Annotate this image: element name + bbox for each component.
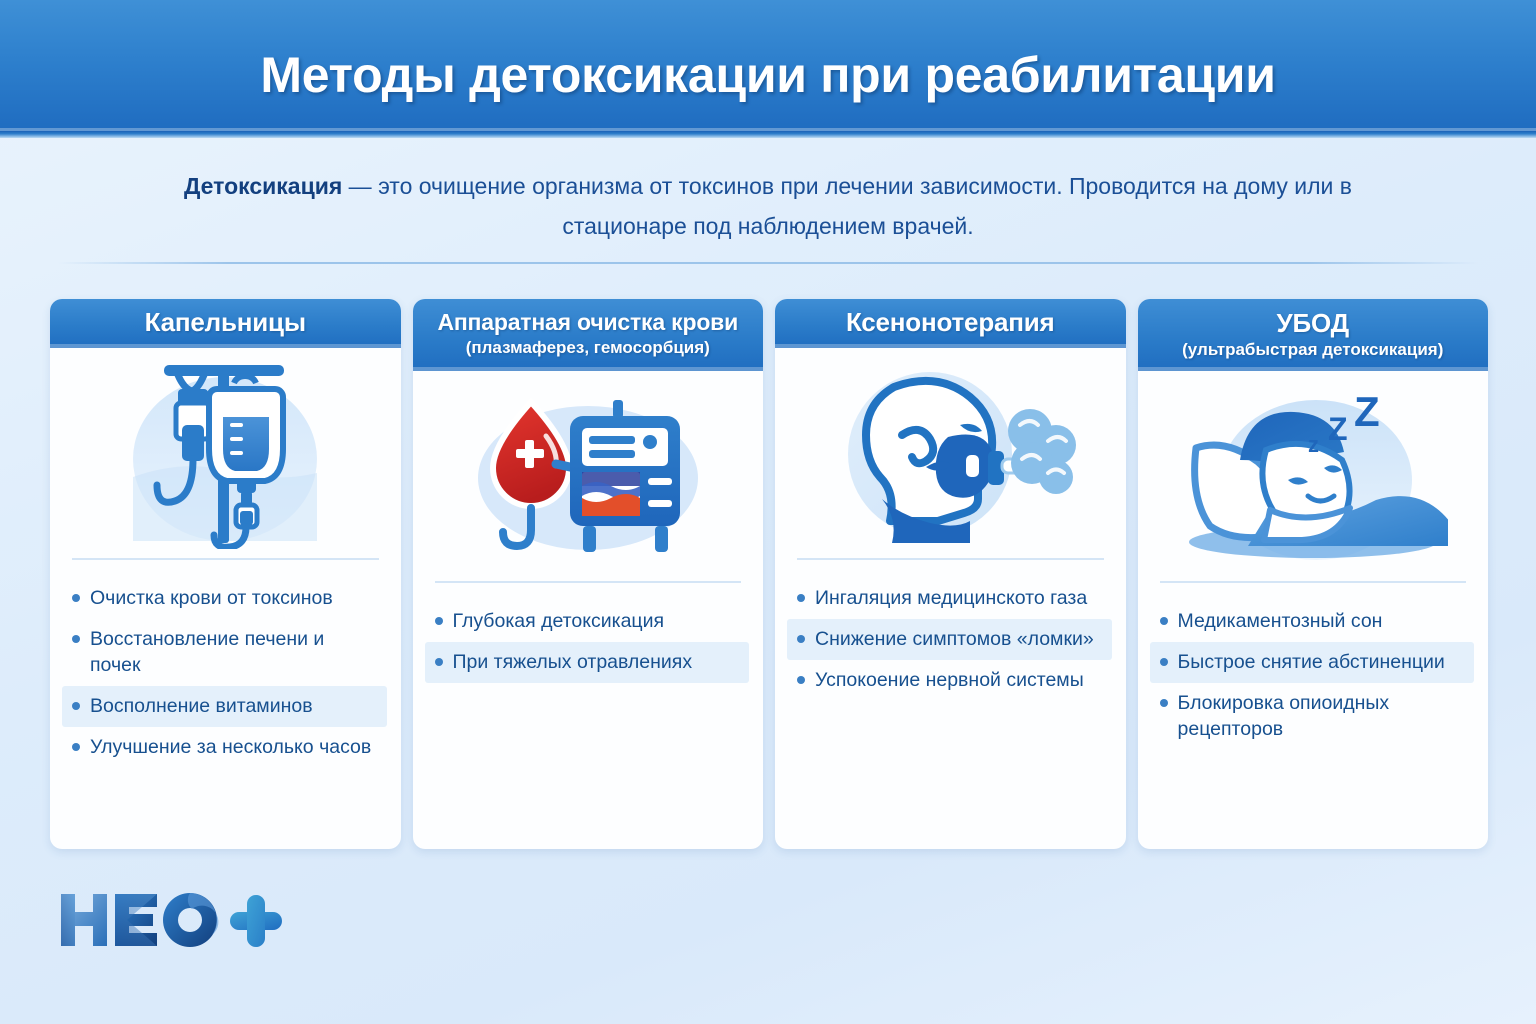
list-item: Блокировка опиоидных рецепторов — [1150, 683, 1475, 750]
method-card-blood-purification[interactable]: Аппаратная очистка крови (плазмаферез, г… — [413, 299, 764, 849]
card-subtitle: (плазмаферез, гемосорбция) — [423, 338, 754, 358]
method-card-xenon[interactable]: Ксенонотерапия — [775, 299, 1126, 849]
bullet-icon — [72, 702, 80, 710]
svg-text:Z: Z — [1354, 388, 1380, 435]
list-item-label: Глубокая детоксикация — [453, 608, 742, 634]
list-item: Быстрое снятие абстиненции — [1150, 642, 1475, 683]
intro-lead-word: Детоксикация — [184, 173, 342, 199]
bullet-icon — [1160, 617, 1168, 625]
intro-paragraph: Детоксикация — это очищение организма от… — [168, 166, 1368, 246]
iv-drip-icon — [50, 348, 401, 554]
infographic-poster: Методы детоксикации при реабилитации Дет… — [0, 0, 1536, 1024]
list-item: Медикаментозный сон — [1150, 601, 1475, 642]
benefit-list-blood-purification: Глубокая детоксикация При тяжелых отравл… — [413, 583, 764, 849]
list-item: Восполнение витаминов — [62, 686, 387, 727]
bullet-icon — [72, 743, 80, 751]
method-cards-row: Капельницы — [50, 299, 1488, 849]
card-header-xenon: Ксенонотерапия — [775, 299, 1126, 348]
list-item: Очистка крови от токсинов — [62, 578, 387, 619]
list-item-label: Восполнение витаминов — [90, 693, 379, 719]
method-card-drip[interactable]: Капельницы — [50, 299, 401, 849]
card-title: Аппаратная очистка крови — [423, 310, 754, 336]
list-item: Глубокая детоксикация — [425, 601, 750, 642]
sleeping-patient-icon: z Z Z — [1138, 371, 1489, 577]
method-card-ubod[interactable]: УБОД (ультрабыстрая детоксикация) — [1138, 299, 1489, 849]
bullet-icon — [797, 635, 805, 643]
list-item: При тяжелых отравлениях — [425, 642, 750, 683]
list-item: Успокоение нервной системы — [787, 660, 1112, 701]
list-item-label: Быстрое снятие абстиненции — [1178, 649, 1467, 675]
list-item-label: Улучшение за несколько часов — [90, 734, 379, 760]
bullet-icon — [1160, 699, 1168, 707]
svg-text:Z: Z — [1328, 411, 1348, 447]
card-header-ubod: УБОД (ультрабыстрая детоксикация) — [1138, 299, 1489, 371]
xenon-inhalation-icon — [775, 348, 1126, 554]
card-header-blood-purification: Аппаратная очистка крови (плазмаферез, г… — [413, 299, 764, 371]
list-item-label: Ингаляция медицинското газа — [815, 585, 1104, 611]
card-title: Ксенонотерапия — [785, 308, 1116, 337]
benefit-list-ubod: Медикаментозный сон Быстрое снятие абсти… — [1138, 583, 1489, 849]
blood-purification-icon — [413, 371, 764, 577]
bullet-icon — [797, 676, 805, 684]
bullet-icon — [435, 617, 443, 625]
list-item: Восстановление печени и почек — [62, 619, 387, 686]
page-title: Методы детоксикации при реабилитации — [0, 46, 1536, 104]
bullet-icon — [72, 594, 80, 602]
card-header-drip: Капельницы — [50, 299, 401, 348]
card-subtitle: (ультрабыстрая детоксикация) — [1148, 340, 1479, 360]
list-item: Улучшение за несколько часов — [62, 727, 387, 768]
list-item-label: Очистка крови от токсинов — [90, 585, 379, 611]
list-item-label: Медикаментозный сон — [1178, 608, 1467, 634]
list-item: Ингаляция медицинското газа — [787, 578, 1112, 619]
list-item-label: Восстановление печени и почек — [90, 626, 379, 678]
list-item-label: Блокировка опиоидных рецепторов — [1178, 690, 1467, 742]
svg-text:z: z — [1308, 432, 1319, 457]
card-title: Капельницы — [60, 308, 391, 337]
card-title: УБОД — [1148, 309, 1479, 338]
bullet-icon — [435, 658, 443, 666]
benefit-list-xenon: Ингаляция медицинското газа Снижение сим… — [775, 560, 1126, 849]
intro-divider — [58, 262, 1478, 264]
list-item-label: Снижение симптомов «ломки» — [815, 626, 1104, 652]
neo-plus-logo[interactable] — [57, 889, 287, 951]
list-item: Снижение симптомов «ломки» — [787, 619, 1112, 660]
intro-rest-text: — это очищение организма от токсинов при… — [342, 173, 1352, 239]
list-item-label: При тяжелых отравлениях — [453, 649, 742, 675]
header-underline — [0, 131, 1536, 138]
list-item-label: Успокоение нервной системы — [815, 667, 1104, 693]
bullet-icon — [72, 635, 80, 643]
benefit-list-drip: Очистка крови от токсинов Восстановление… — [50, 560, 401, 849]
bullet-icon — [1160, 658, 1168, 666]
bullet-icon — [797, 594, 805, 602]
